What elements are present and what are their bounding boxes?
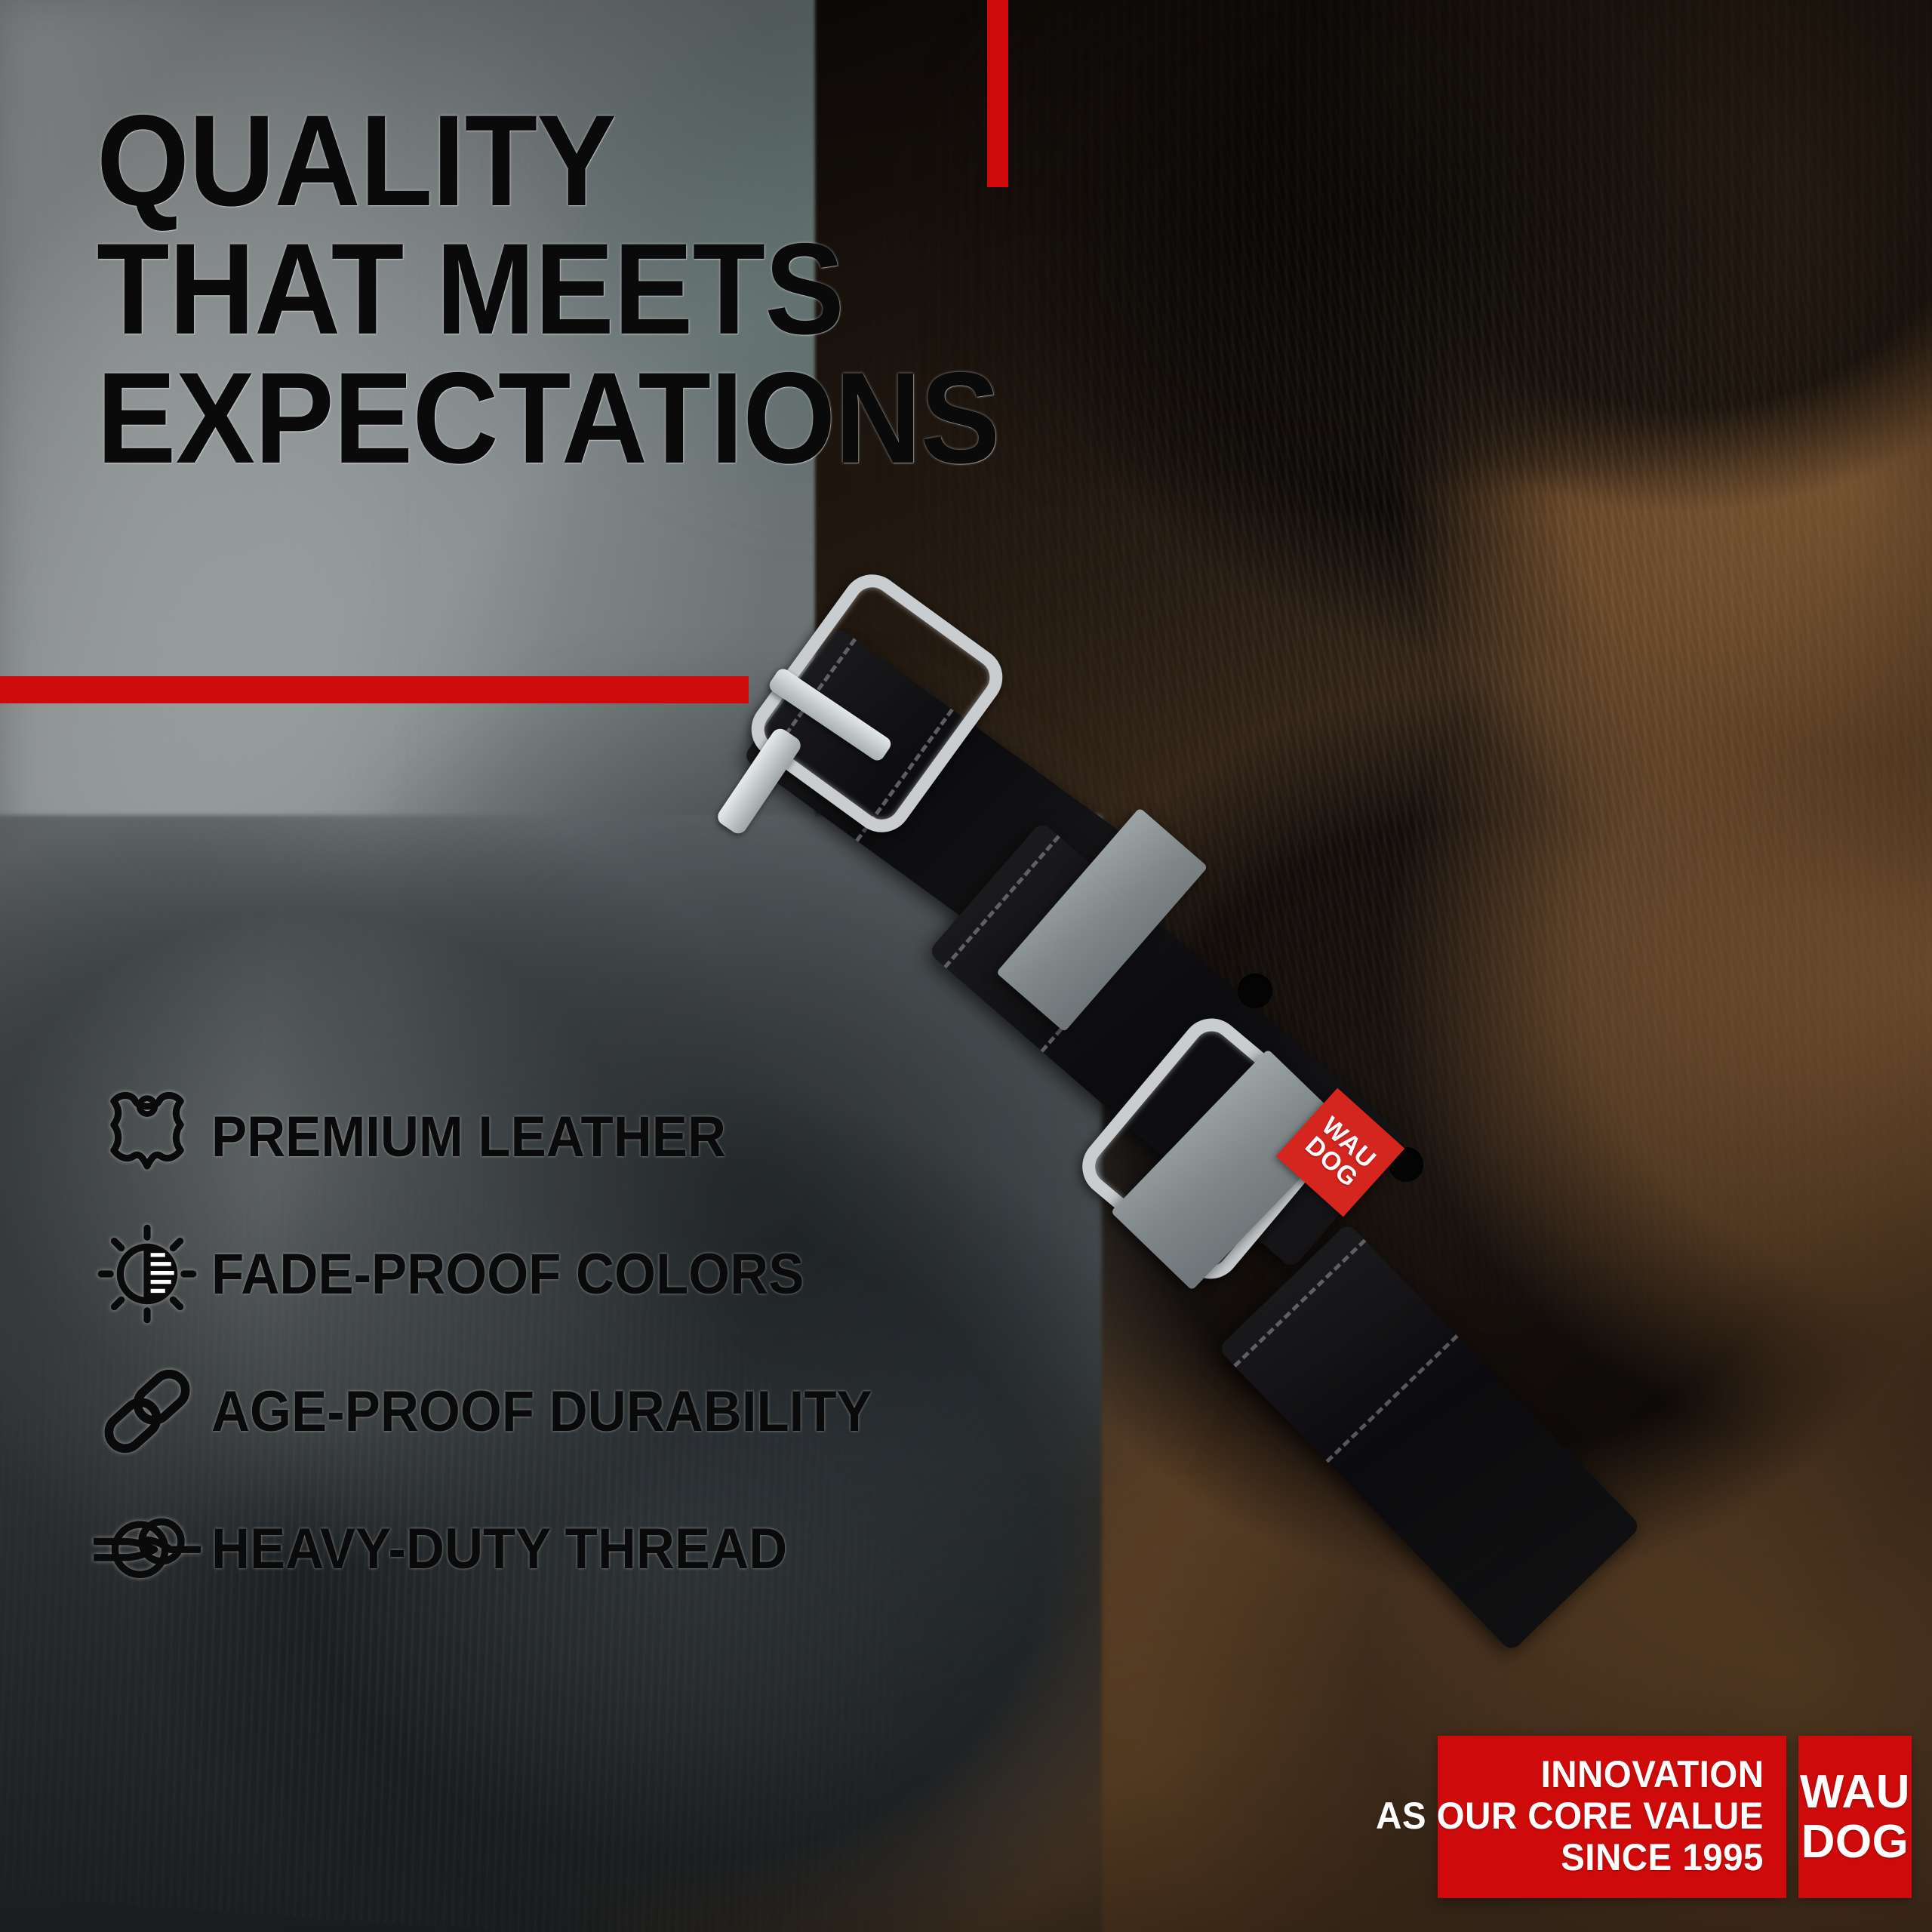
waudog-logo-badge: WAU DOG (1798, 1736, 1912, 1898)
tagline-line-2: AS OUR CORE VALUE (1376, 1795, 1764, 1837)
feature-label: HEAVY-DUTY THREAD (211, 1516, 787, 1582)
leather-hide-icon (83, 1088, 211, 1186)
feature-label: PREMIUM LEATHER (211, 1104, 726, 1170)
headline-line-3: EXPECTATIONS (97, 354, 999, 482)
feature-list: PREMIUM LEATHER (83, 1068, 922, 1617)
logo-line-1: WAU (1800, 1769, 1910, 1816)
sun-fade-icon (83, 1224, 211, 1324)
brand-badges: INNOVATION AS OUR CORE VALUE SINCE 1995 … (1438, 1736, 1912, 1898)
tagline-badge: INNOVATION AS OUR CORE VALUE SINCE 1995 (1438, 1736, 1786, 1898)
feature-item-fade-proof-colors: FADE-PROOF COLORS (83, 1205, 922, 1343)
red-accent-rule-horizontal (0, 676, 749, 703)
headline-line-1: QUALITY (97, 97, 999, 225)
logo-line-2: DOG (1801, 1819, 1909, 1866)
headline-line-2: THAT MEETS (97, 225, 999, 353)
feature-item-premium-leather: PREMIUM LEATHER (83, 1068, 922, 1205)
feature-label: AGE-PROOF DURABILITY (211, 1379, 872, 1444)
chain-link-icon (83, 1362, 211, 1460)
advertisement-canvas: WAU DOG QUALITY THAT MEETS EXPECTATIONS … (0, 0, 1932, 1932)
tagline-line-1: INNOVATION (1540, 1754, 1764, 1795)
tagline-line-3: SINCE 1995 (1561, 1837, 1764, 1878)
feature-item-age-proof-durability: AGE-PROOF DURABILITY (83, 1343, 922, 1480)
feature-label: FADE-PROOF COLORS (211, 1241, 804, 1307)
knot-thread-icon (83, 1503, 211, 1594)
feature-item-heavy-duty-thread: HEAVY-DUTY THREAD (83, 1480, 922, 1617)
headline: QUALITY THAT MEETS EXPECTATIONS (97, 97, 999, 482)
